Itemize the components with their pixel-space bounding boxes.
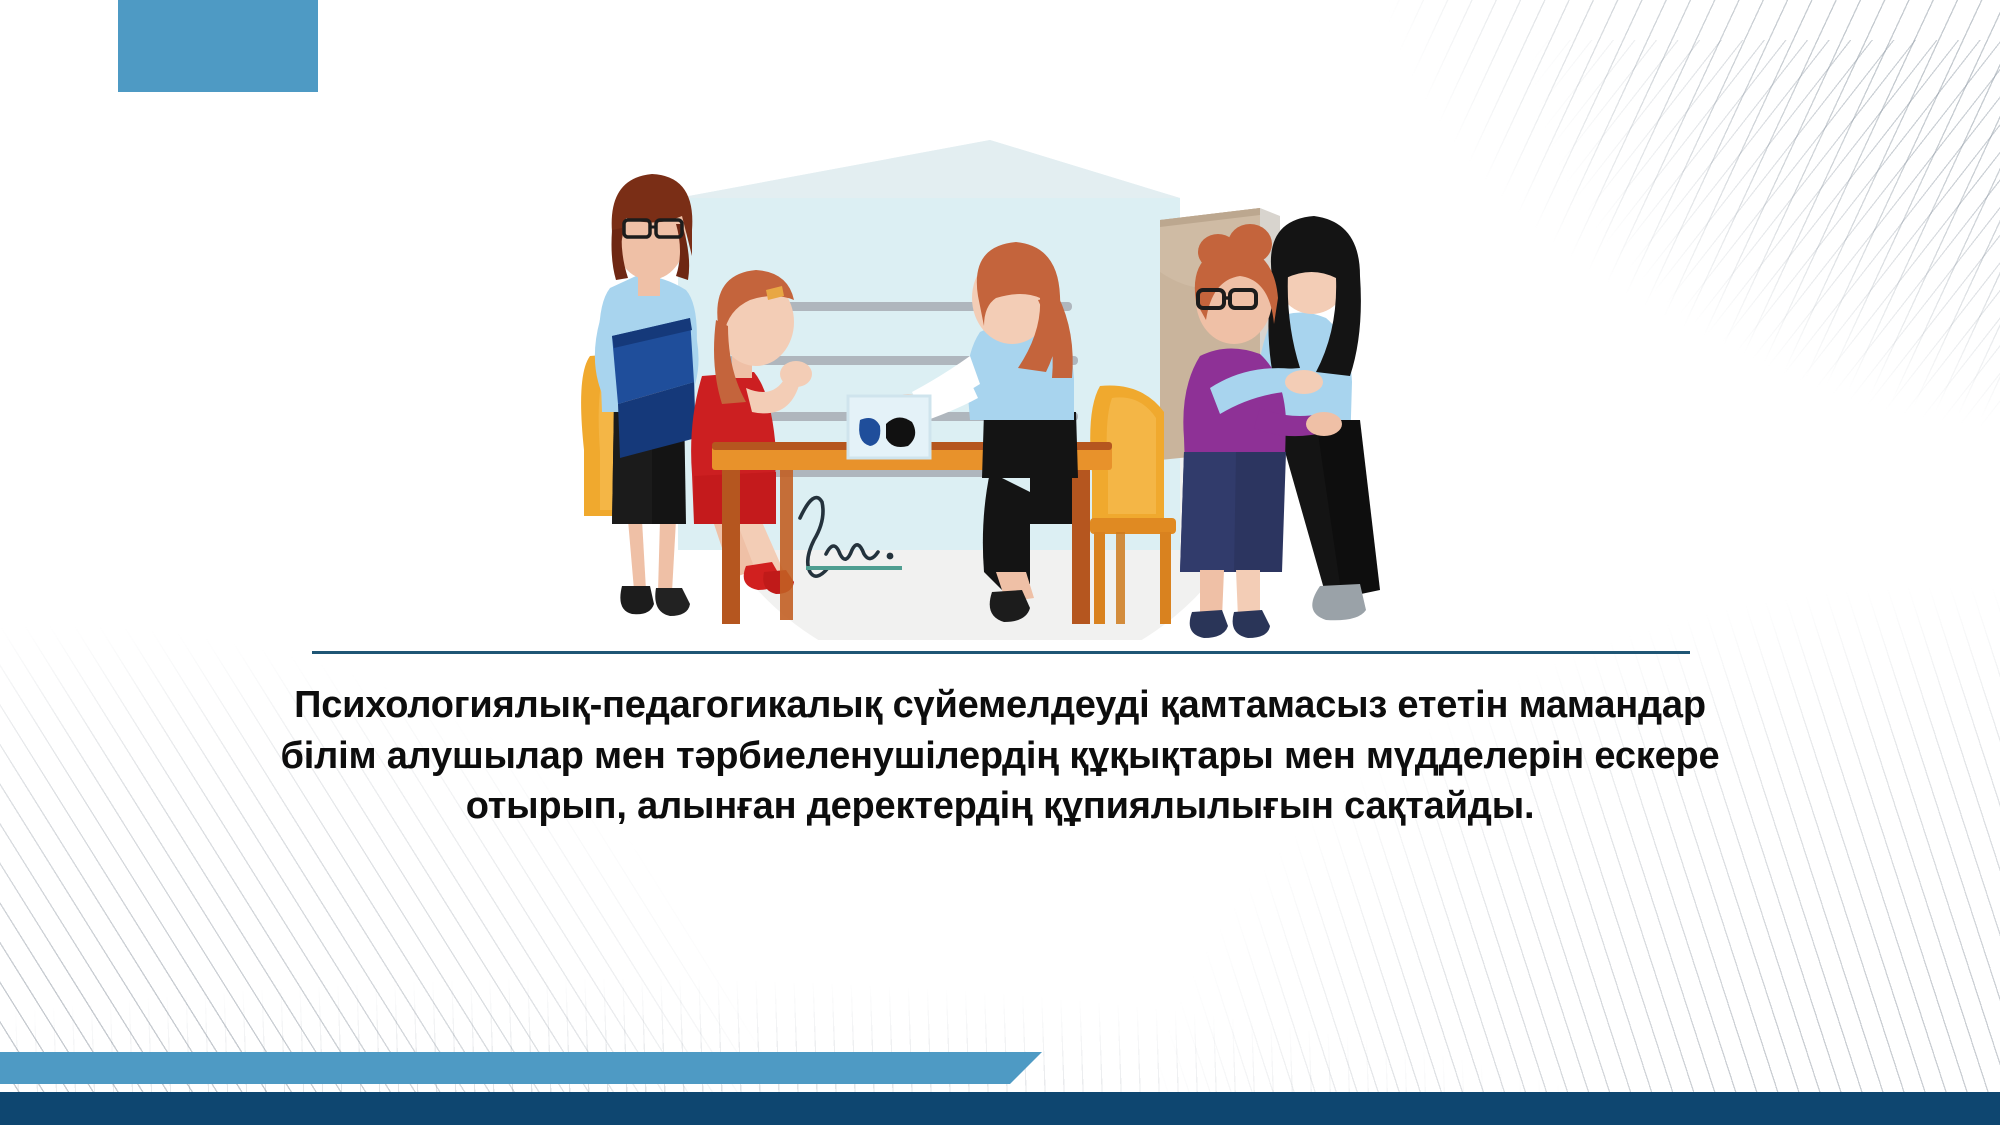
illustration-psychological-support bbox=[560, 120, 1480, 640]
decorative-lines-top-right-secondary bbox=[1440, 40, 2000, 460]
footer-accent-bar bbox=[0, 1052, 1042, 1084]
slide: Психологиялық-педагогикалық сүйемелдеуді… bbox=[0, 0, 2000, 1125]
footer-bar bbox=[0, 1092, 2000, 1125]
slide-caption: Психологиялық-педагогикалық сүйемелдеуді… bbox=[250, 680, 1750, 832]
caption-divider bbox=[312, 651, 1690, 654]
corner-accent-square bbox=[118, 0, 318, 92]
